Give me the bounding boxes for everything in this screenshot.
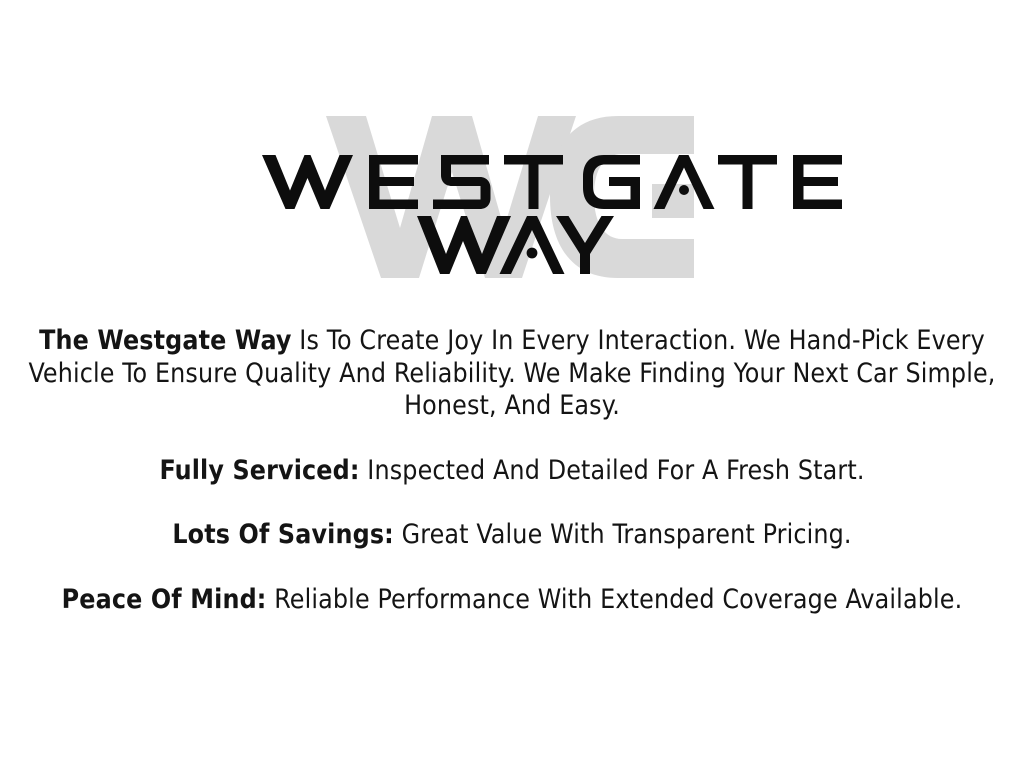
- paragraph-lead: Lots Of Savings:: [172, 519, 394, 550]
- paragraph-text: Great Value With Transparent Pricing.: [394, 519, 852, 550]
- paragraph-text: Reliable Performance With Extended Cover…: [267, 584, 963, 615]
- logo-block: [0, 104, 1024, 294]
- wordmark-line-westgate: [262, 155, 842, 209]
- paragraph-lead: The Westgate Way: [39, 325, 291, 356]
- paragraph-fully-serviced: Fully Serviced: Inspected And Detailed F…: [24, 455, 1000, 488]
- paragraph-lots-of-savings: Lots Of Savings: Great Value With Transp…: [24, 519, 1000, 552]
- wordmark-line-way: [417, 216, 614, 274]
- paragraph-text: Inspected And Detailed For A Fresh Start…: [360, 455, 865, 486]
- paragraph-lead: Peace Of Mind:: [62, 584, 267, 615]
- body-copy: The Westgate Way Is To Create Joy In Eve…: [24, 325, 1000, 616]
- paragraph-peace-of-mind: Peace Of Mind: Reliable Performance With…: [24, 584, 1000, 617]
- paragraph-lead: Fully Serviced:: [159, 455, 359, 486]
- westgate-way-wordmark: [0, 104, 1024, 294]
- paragraph-westgate-way: The Westgate Way Is To Create Joy In Eve…: [24, 325, 1000, 423]
